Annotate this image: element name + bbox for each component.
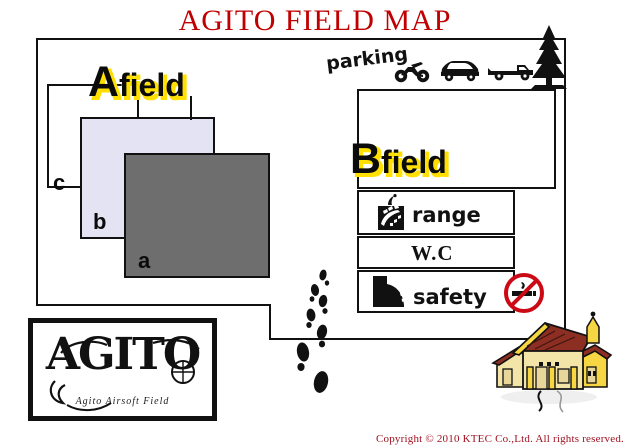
map-border-left: [36, 38, 38, 306]
afield-leader-line: [190, 96, 192, 120]
afield-zone-c-letter: c: [53, 172, 65, 194]
safety-barrier-icon: [371, 274, 411, 310]
motorcycle-icon: [393, 57, 431, 83]
map-border-mid-vertical: [269, 304, 271, 340]
bfield-row-wc-label: W.C: [411, 241, 454, 266]
afield-label: Afield: [88, 58, 185, 107]
afield-label-rest: field: [119, 67, 185, 103]
agito-logo-box: AGITO Agito Airsoft Field: [28, 318, 217, 421]
bfield-label-rest: field: [381, 144, 447, 180]
bfield-label: Bfield: [350, 135, 447, 184]
map-border-top: [36, 38, 566, 40]
clubhouse-icon: [483, 305, 618, 415]
copyright-notice: Copyright © 2010 KTEC Co.,Ltd. All right…: [376, 433, 624, 445]
afield-zone-b-letter: b: [93, 211, 106, 233]
bfield-row-range-label: range: [412, 203, 481, 227]
bfield-label-initial: B: [350, 135, 381, 183]
afield-label-initial: A: [88, 58, 119, 106]
bfield-row-safety-label: safety: [413, 285, 487, 309]
footprints-trail-icon: [292, 268, 340, 408]
afield-zone-a-letter: a: [138, 250, 150, 272]
range-gun-icon: [374, 194, 408, 232]
field-map-canvas: AGITO FIELD MAP c b a Afield parking: [0, 0, 630, 448]
pine-tree-icon: [527, 25, 571, 91]
map-border-afield-bottom: [36, 304, 271, 306]
car-icon: [439, 58, 481, 82]
